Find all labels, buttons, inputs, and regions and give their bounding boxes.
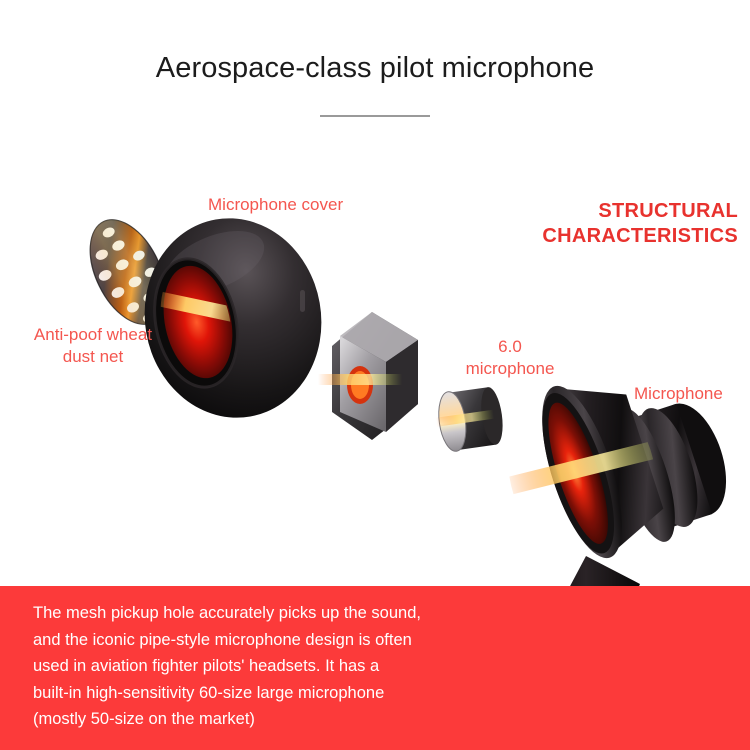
- label-dust-net-line-1: Anti-poof wheat: [8, 324, 178, 346]
- banner-line: The mesh pickup hole accurately picks up…: [33, 600, 503, 627]
- microphone-cover-part: [129, 204, 337, 432]
- title-divider: [320, 115, 430, 117]
- banner-line: used in aviation fighter pilots' headset…: [33, 653, 503, 680]
- headline-line-1: STRUCTURAL: [542, 199, 738, 224]
- headline-line-2: CHARACTERISTICS: [542, 224, 738, 249]
- banner-line: built-in high-sensitivity 60-size large …: [33, 680, 503, 707]
- cylinder-capsule-part: [432, 385, 506, 454]
- banner-description-text: The mesh pickup hole accurately picks up…: [33, 600, 503, 733]
- product-infographic: Aerospace-class pilot microphone: [0, 0, 750, 750]
- structural-characteristics-headline: STRUCTURAL CHARACTERISTICS: [542, 199, 738, 249]
- label-anti-poof-dust-net: Anti-poof wheat dust net: [8, 324, 178, 368]
- banner-line: and the iconic pipe-style microphone des…: [33, 627, 503, 654]
- hex-module-part: [318, 312, 418, 440]
- label-microphone: Microphone: [634, 383, 723, 405]
- label-60-line-1: 6.0: [445, 336, 575, 358]
- mesh-disc-part: [75, 208, 182, 337]
- banner-line: (mostly 50-size on the market): [33, 706, 503, 733]
- label-60-line-2: microphone: [445, 358, 575, 380]
- label-60-microphone: 6.0 microphone: [445, 336, 575, 380]
- label-microphone-cover: Microphone cover: [208, 194, 343, 216]
- description-banner: The mesh pickup hole accurately picks up…: [0, 586, 750, 750]
- page-title: Aerospace-class pilot microphone: [0, 52, 750, 85]
- label-dust-net-line-2: dust net: [8, 346, 178, 368]
